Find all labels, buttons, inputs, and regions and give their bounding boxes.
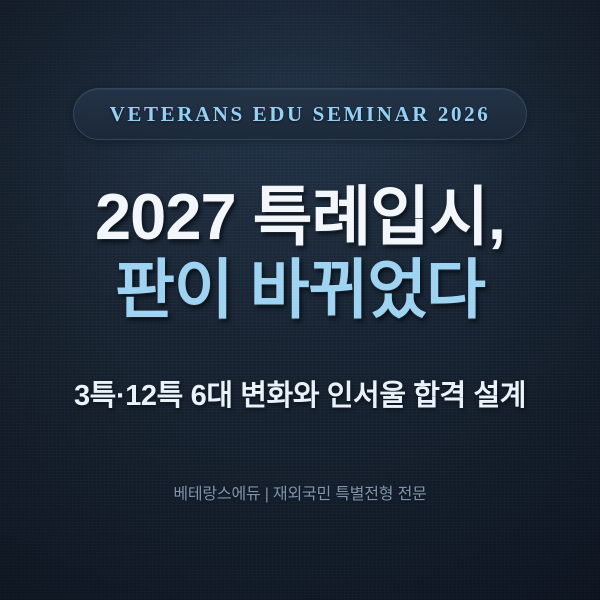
seminar-badge-label: VETERANS EDU SEMINAR 2026 [110, 102, 491, 127]
headline-line-2: 판이 바뀌었다 [95, 257, 505, 323]
poster-content: VETERANS EDU SEMINAR 2026 2027 특례입시, 판이 … [0, 0, 600, 600]
subtitle: 3특·12특 6대 변화와 인서울 합격 설계 [74, 372, 526, 414]
promo-poster: VETERANS EDU SEMINAR 2026 2027 특례입시, 판이 … [0, 0, 600, 600]
headline: 2027 특례입시, 판이 바뀌었다 [95, 184, 505, 324]
seminar-badge: VETERANS EDU SEMINAR 2026 [73, 88, 528, 140]
headline-line-1: 2027 특례입시, [95, 184, 505, 250]
footer-attribution: 베테랑스에듀 | 재외국민 특별전형 전문 [173, 480, 426, 504]
